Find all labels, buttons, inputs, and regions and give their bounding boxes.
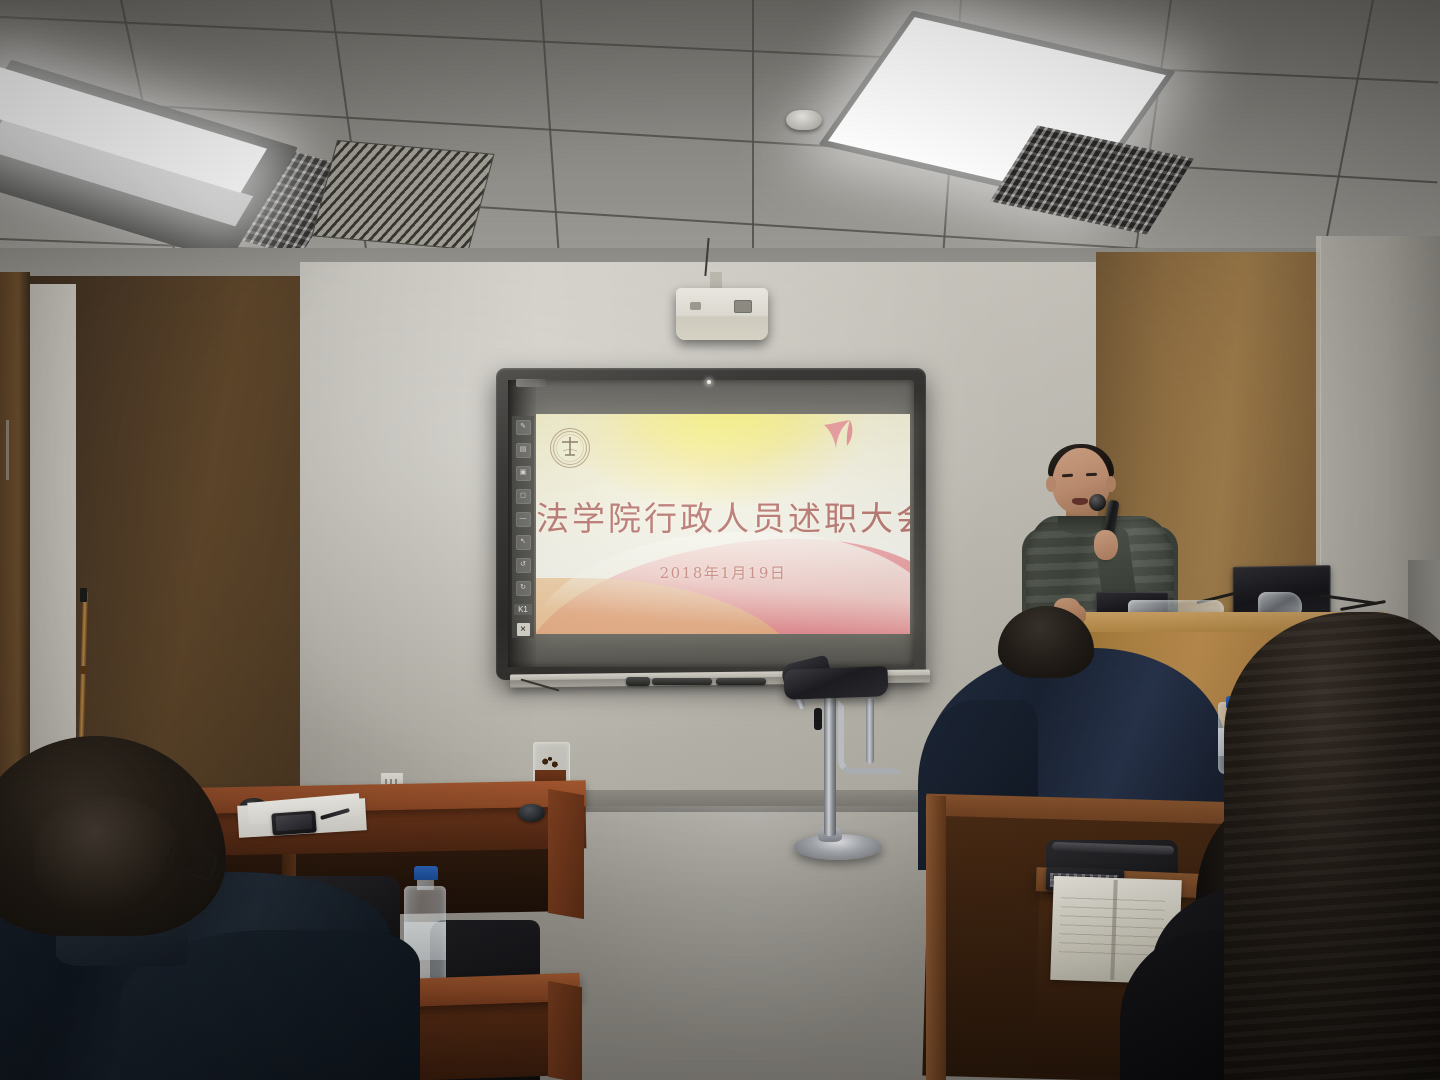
attendee-front-right-woman [1224,612,1440,1080]
marker-black[interactable] [652,678,712,685]
pen-tool-icon[interactable]: ✎ [516,420,531,435]
projector-lens-icon [734,300,752,313]
marker-blue[interactable] [716,678,766,685]
shapes-icon[interactable]: ◻ [516,489,531,504]
presenter-hand-holding-mic [1094,530,1118,560]
stool-height-lever[interactable] [814,708,822,730]
projector-vent [690,302,701,310]
smoke-detector-icon [786,110,822,130]
presenter-ear-left [1046,476,1056,492]
projected-slide: 法学院行政人员述职大会 2018年1月19日 [536,414,910,634]
desk-left-back-side [548,789,584,919]
tea-leaves [538,756,562,770]
chrome-bar-stool[interactable] [784,666,889,700]
mobile-phone-screen[interactable] [276,814,313,831]
desk-left-front-side [548,981,582,1080]
ceiling-projector [676,288,768,340]
pink-ribbon-icon [820,418,866,466]
door-seam [6,420,9,480]
presenter-ear-right [1106,476,1116,492]
ashtray[interactable] [518,804,545,822]
microphone-head-icon [1089,494,1106,511]
whiteboard-mode-label[interactable]: K1 [514,604,532,615]
undo-icon[interactable]: ↺ [516,558,531,573]
meeting-room-photo: 法学院行政人员述职大会 2018年1月19日 ✎ ▤ ▣ ◻ — ↖ ↺ ↻ K… [0,0,1440,1080]
brand-logo [516,379,546,387]
stool-footrest-bar [866,698,874,764]
presenter-eye-right [1086,473,1097,476]
redo-icon[interactable]: ↻ [516,581,531,596]
desk-right-back-edge [926,796,946,1080]
whiteboard-side-toolbar[interactable]: ✎ ▤ ▣ ◻ — ↖ ↺ ↻ K1 × [512,416,534,638]
select-icon[interactable]: ↖ [516,535,531,550]
pointer-stick-tip [80,588,87,602]
line-tool-icon[interactable]: — [516,512,531,527]
pointer-stick-joint [79,666,87,674]
floor-reflection [520,806,980,1080]
slide-light-wave [536,532,910,634]
eraser-icon[interactable]: ▣ [516,466,531,481]
highlighter-icon[interactable]: ▤ [516,443,531,458]
slide-date: 2018年1月19日 [536,562,910,583]
eraser-block[interactable] [626,677,650,686]
presenter-mouth [1072,498,1088,505]
slide-title: 法学院行政人员述职大会 [536,492,910,540]
attendee-front-left-hair-highlight [34,796,184,916]
water-bottle-left-cap[interactable] [414,866,438,880]
power-led-icon [707,380,711,384]
university-seal-icon [550,428,590,468]
close-icon[interactable]: × [517,623,530,636]
air-vent-center [311,140,494,250]
stool-gas-lift-post [824,694,836,836]
